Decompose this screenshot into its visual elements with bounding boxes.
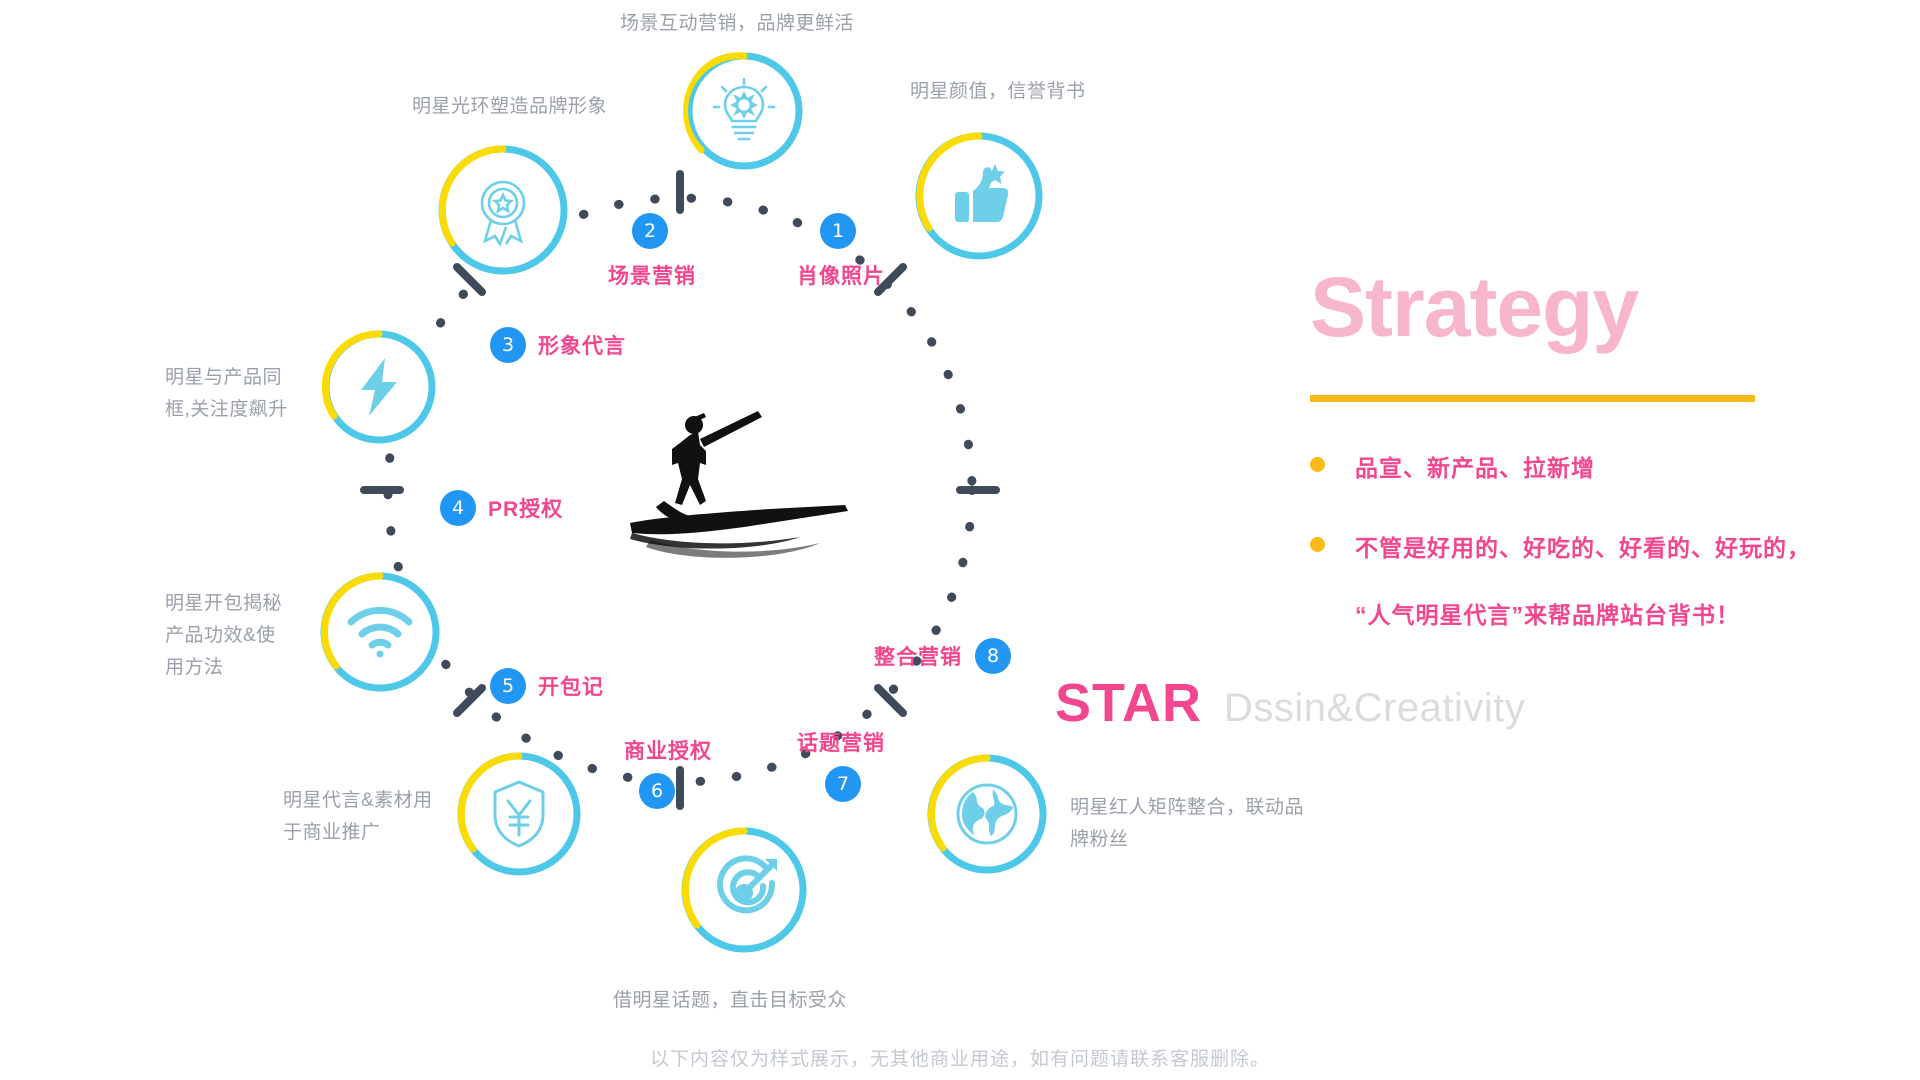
- step-number: 3: [502, 334, 514, 356]
- bullet-subline: “人气明星代言”来帮品牌站台背书！: [1355, 596, 1870, 630]
- bubble-award-ribbon[interactable]: [436, 143, 570, 277]
- step-label-5: 开包记: [538, 671, 604, 701]
- list-item: 不管是好用的、好吃的、好看的、好玩的，: [1310, 530, 1870, 566]
- title-underline-divider: [1310, 395, 1755, 402]
- step-number: 5: [502, 675, 514, 697]
- description-scene-marketing: 场景互动营销，品牌更鲜活: [620, 8, 854, 40]
- bullet-text: 不管是好用的、好吃的、好看的、好玩的，: [1355, 530, 1811, 566]
- step-marker-2[interactable]: 2: [632, 213, 668, 249]
- step-marker-7[interactable]: 7: [825, 766, 861, 802]
- award-ribbon-icon: [466, 173, 540, 247]
- step-marker-8[interactable]: 8: [975, 638, 1011, 674]
- step-marker-4[interactable]: 4: [440, 490, 476, 526]
- step-label-3: 形象代言: [538, 330, 626, 360]
- gondolier-silhouette-image: [620, 405, 870, 585]
- description-star-face-value: 明星颜值，信誉背书: [910, 76, 1086, 108]
- thumbs-up-star-icon: [943, 160, 1015, 232]
- bubble-target-arrow[interactable]: [679, 825, 809, 955]
- step-number: 8: [987, 645, 999, 667]
- bubble-wifi-signal[interactable]: [318, 570, 442, 694]
- bullet-dot-icon: [1310, 457, 1325, 472]
- step-number: 7: [837, 773, 849, 795]
- description-product-coframe: 明星与产品同 框,关注度飙升: [165, 362, 288, 426]
- description-star-halo: 明星光环塑造品牌形象: [412, 91, 607, 123]
- lightning-bolt-icon: [355, 356, 403, 418]
- step-label-8: 整合营销: [874, 641, 962, 671]
- bubble-lightning-bolt[interactable]: [320, 328, 438, 446]
- bullet-dot-icon: [1310, 537, 1325, 552]
- bubble-thumbs-up-star[interactable]: [913, 130, 1045, 262]
- step-number: 4: [452, 497, 464, 519]
- target-arrow-icon: [709, 855, 779, 925]
- step-number: 2: [644, 220, 656, 242]
- step-marker-5[interactable]: 5: [490, 668, 526, 704]
- lightbulb-gear-icon: [710, 77, 778, 145]
- step-label-7: 话题营销: [797, 727, 885, 757]
- step-label-4: PR授权: [488, 493, 563, 523]
- wifi-signal-icon: [347, 606, 413, 658]
- step-label-1: 肖像照片: [797, 260, 885, 290]
- step-label-6: 商业授权: [624, 735, 712, 765]
- brand-logo: STAR Dssin&Creativity: [1055, 672, 1525, 734]
- slide-canvas: 1 肖像照片 2 场景营销 3 形象代言 4 PR授权 5 开包记 6 商业授权…: [0, 0, 1920, 1080]
- footer-disclaimer: 以下内容仅为样式展示，无其他商业用途，如有问题请联系客服删除。: [0, 1044, 1920, 1071]
- shield-yen-icon: [490, 779, 548, 849]
- bubble-lightbulb-gear[interactable]: [683, 50, 805, 172]
- step-label-2: 场景营销: [608, 260, 696, 290]
- description-commercial-use: 明星代言&素材用 于商业推广: [283, 785, 433, 849]
- step-marker-6[interactable]: 6: [639, 773, 675, 809]
- description-topic-audience: 借明星话题，直击目标受众: [613, 985, 847, 1017]
- globe-earth-icon: [953, 780, 1021, 848]
- step-number: 1: [832, 220, 844, 242]
- bullet-list: 品宣、新产品、拉新增 不管是好用的、好吃的、好看的、好玩的， “人气明星代言”来…: [1310, 450, 1870, 630]
- step-marker-3[interactable]: 3: [490, 327, 526, 363]
- brand-tagline: Dssin&Creativity: [1224, 686, 1525, 731]
- strategy-panel: Strategy 品宣、新产品、拉新增 不管是好用的、好吃的、好看的、好玩的， …: [1310, 265, 1870, 630]
- list-item: 品宣、新产品、拉新增: [1310, 450, 1870, 486]
- description-influencer-matrix: 明星红人矩阵整合，联动品 牌粉丝: [1070, 792, 1304, 856]
- bubble-shield-yen[interactable]: [455, 750, 583, 878]
- page-title: Strategy: [1310, 265, 1870, 349]
- bubble-globe-earth[interactable]: [925, 752, 1049, 876]
- step-number: 6: [651, 780, 663, 802]
- brand-name: STAR: [1055, 672, 1202, 734]
- step-marker-1[interactable]: 1: [820, 213, 856, 249]
- bullet-text: 品宣、新产品、拉新增: [1355, 450, 1595, 486]
- description-unboxing: 明星开包揭秘 产品功效&使 用方法: [165, 588, 282, 684]
